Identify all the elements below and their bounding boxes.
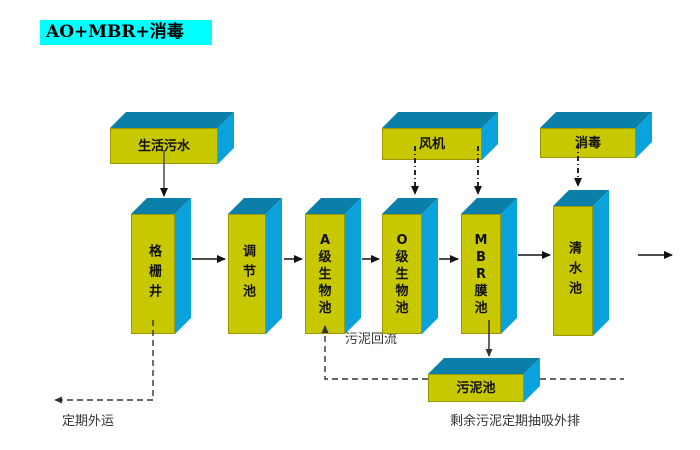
- connectors-layer: [0, 0, 700, 450]
- connector-sludge-return-line: [325, 326, 428, 379]
- connector-grit-to-haul: [55, 320, 153, 400]
- diagram-canvas: AO+MBR+消毒 生活污水风机消毒格栅井调节池A级生物池O级生物池MBR膜池清…: [0, 0, 700, 450]
